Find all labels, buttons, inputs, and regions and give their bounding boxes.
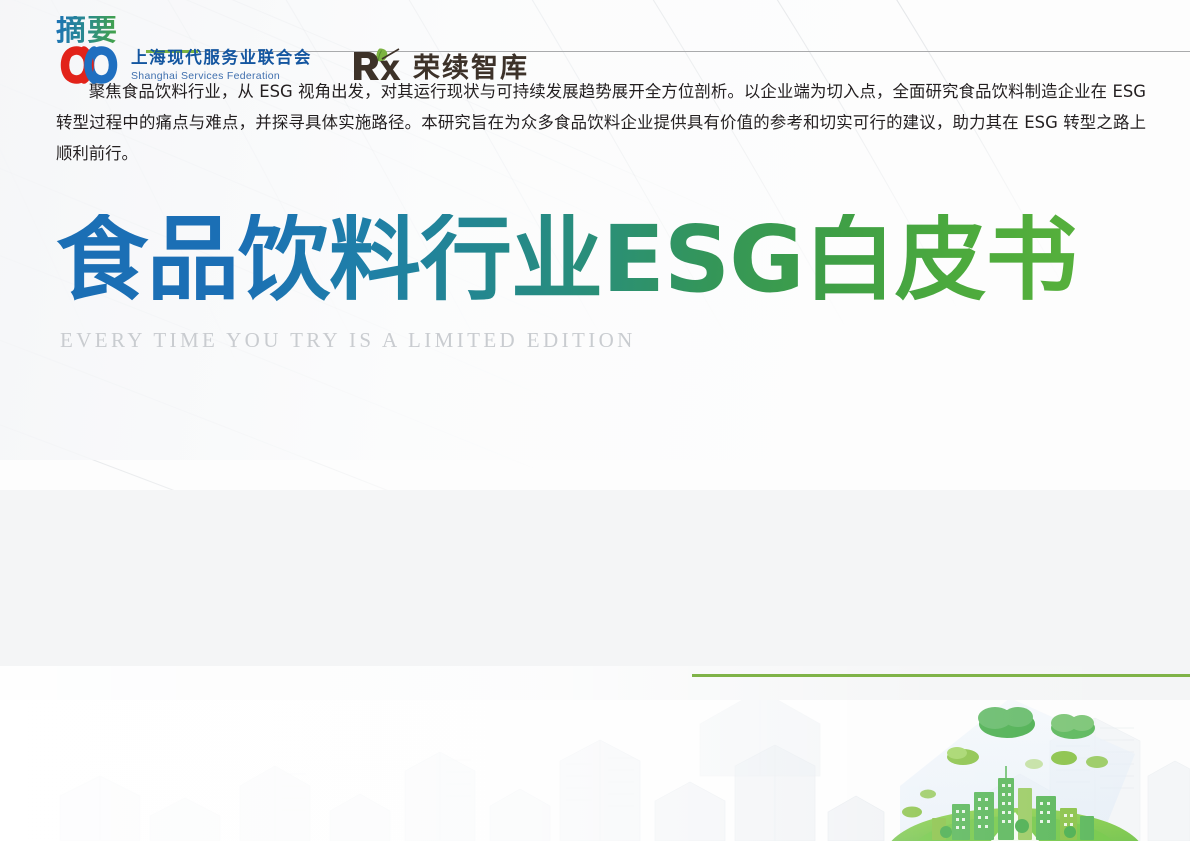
abstract-section: 摘要 聚焦食品饮料行业，从 ESG 视角出发，对其运行现状与可持续发展趋势展开全… xyxy=(0,0,1190,210)
header-logo-bar: 上海现代服务业联合会 Shanghai Services Federation … xyxy=(58,44,529,86)
rx-leaf-icon xyxy=(352,47,404,83)
lower-green-divider xyxy=(692,674,1190,677)
abstract-band-background xyxy=(0,490,1190,700)
abstract-heading-wrap: 摘要 xyxy=(56,16,118,46)
ssf-wordmark: 上海现代服务业联合会 Shanghai Services Federation xyxy=(131,49,312,82)
rx-chinese-name: 荣续智库 xyxy=(413,46,529,85)
ssf-english-name: Shanghai Services Federation xyxy=(131,71,312,82)
abstract-heading: 摘要 xyxy=(56,16,118,46)
abstract-paragraph: 聚焦食品饮料行业，从 ESG 视角出发，对其运行现状与可持续发展趋势展开全方位剖… xyxy=(56,76,1146,169)
infinity-loop-icon xyxy=(58,44,120,86)
page-subtitle: EVERY TIME YOU TRY IS A LIMITED EDITION xyxy=(60,328,1077,353)
logo-shanghai-services-federation: 上海现代服务业联合会 Shanghai Services Federation xyxy=(58,44,312,86)
page-title: 食品饮料行业ESG白皮书 xyxy=(56,214,1077,306)
ssf-chinese-name: 上海现代服务业联合会 xyxy=(131,50,312,67)
whitepaper-cover-page: 上海现代服务业联合会 Shanghai Services Federation … xyxy=(0,0,1190,841)
eco-city-cluster xyxy=(885,707,1145,841)
title-block: 食品饮料行业ESG白皮书 EVERY TIME YOU TRY IS A LIM… xyxy=(56,214,1077,353)
logo-rongxu-think-tank: 荣续智库 xyxy=(352,46,529,85)
